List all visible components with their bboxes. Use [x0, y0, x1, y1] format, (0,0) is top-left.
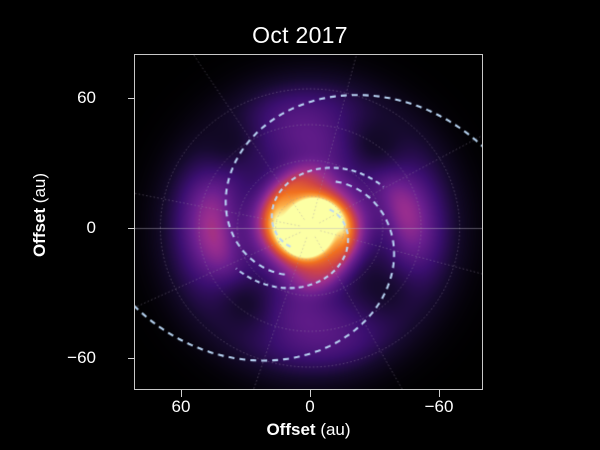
figure-container: Oct 2017 60 0 −60 60 0 −60 Offset (au) O… [0, 0, 600, 450]
y-tick-mark-0 [128, 228, 135, 229]
y-tick-label-60: 60 [77, 89, 96, 107]
x-axis-label: Offset (au) [134, 420, 483, 440]
x-axis-label-bold: Offset [266, 420, 315, 439]
y-axis-label: Offset (au) [30, 115, 50, 315]
y-axis-label-bold: Offset [30, 208, 49, 257]
x-axis-label-unit: (au) [320, 420, 350, 439]
x-tick-mark-neg60 [439, 390, 440, 397]
y-tick-mark-60 [128, 98, 135, 99]
y-tick-mark-neg60 [128, 358, 135, 359]
y-tick-label-0: 0 [87, 219, 96, 237]
y-tick-label-neg60: −60 [67, 349, 96, 367]
disk-heatmap-canvas [135, 55, 482, 389]
plot-area [134, 54, 483, 390]
chart-title: Oct 2017 [0, 22, 600, 48]
x-tick-mark-0 [310, 390, 311, 397]
y-axis-label-unit: (au) [30, 173, 49, 203]
x-tick-label-60: 60 [146, 398, 216, 416]
x-tick-mark-60 [181, 390, 182, 397]
x-tick-label-0: 0 [275, 398, 345, 416]
x-tick-label-neg60: −60 [404, 398, 474, 416]
